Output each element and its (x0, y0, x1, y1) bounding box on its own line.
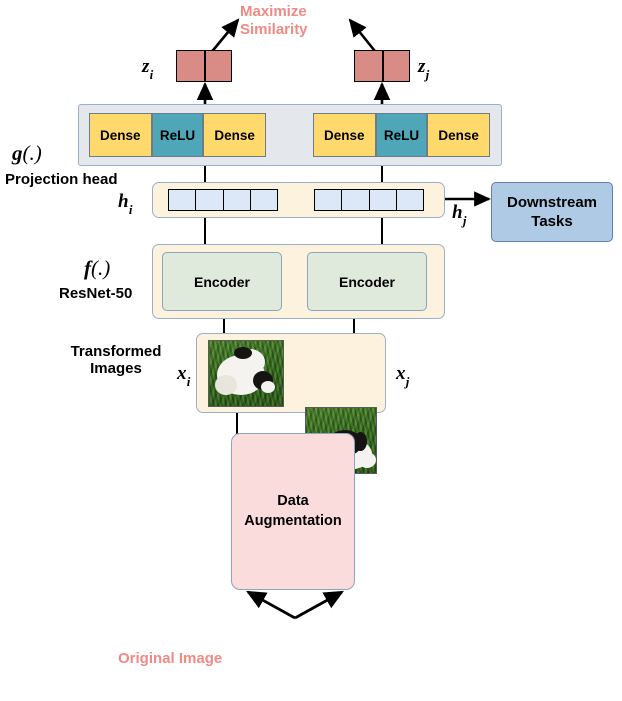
transformed-xj-label: xj (396, 364, 409, 387)
dense-block-1[interactable]: Dense (89, 113, 152, 157)
projection-head-fn-label: g(.) (12, 143, 42, 164)
zi-cell-divider (204, 51, 206, 81)
representation-hj-label: hj (452, 203, 466, 226)
dense-block-2[interactable]: Dense (203, 113, 266, 157)
diagram-canvas: Maximize Similarity zi zj Dense ReLU Den… (0, 0, 622, 701)
original-image-label: Original Image (118, 650, 222, 668)
relu-block-1[interactable]: ReLU (152, 113, 204, 157)
transformed-xi-label: xi (177, 364, 190, 387)
latent-zj-label: zj (418, 57, 429, 80)
zj-cell-divider (382, 51, 384, 81)
transformed-image-xi (208, 340, 284, 407)
hi-cell-3 (224, 189, 251, 211)
hi-cell-4 (251, 189, 278, 211)
hj-cell-2 (342, 189, 369, 211)
encoder-fn-label: f(.) (84, 258, 110, 279)
transformed-images-label: Transformed Images (56, 343, 176, 378)
hj-cell-4 (397, 189, 424, 211)
data-augmentation-box[interactable]: Data Augmentation (231, 433, 355, 590)
representation-hi-cells (168, 189, 278, 211)
dense-block-4[interactable]: Dense (427, 113, 490, 157)
hj-cell-3 (370, 189, 397, 211)
latent-zi-label: zi (142, 57, 153, 80)
encoder-box-left[interactable]: Encoder (162, 252, 282, 311)
projection-head-right-branch: Dense ReLU Dense (313, 113, 490, 157)
downstream-tasks-box[interactable]: Downstream Tasks (491, 182, 613, 242)
relu-block-2[interactable]: ReLU (376, 113, 428, 157)
hj-cell-1 (314, 189, 342, 211)
hi-cell-2 (196, 189, 223, 211)
hi-cell-1 (168, 189, 196, 211)
encoder-box-right[interactable]: Encoder (307, 252, 427, 311)
latent-vector-zi (176, 50, 232, 82)
projection-head-name-label: Projection head (5, 171, 118, 188)
representation-hj-cells (314, 189, 424, 211)
encoder-name-label: ResNet-50 (59, 285, 132, 302)
projection-head-left-branch: Dense ReLU Dense (89, 113, 266, 157)
representation-hi-label: hi (118, 192, 132, 215)
dense-block-3[interactable]: Dense (313, 113, 376, 157)
maximize-similarity-label: Maximize Similarity (240, 3, 360, 39)
latent-vector-zj (354, 50, 410, 82)
connector-aug-to-image-left (236, 412, 238, 434)
